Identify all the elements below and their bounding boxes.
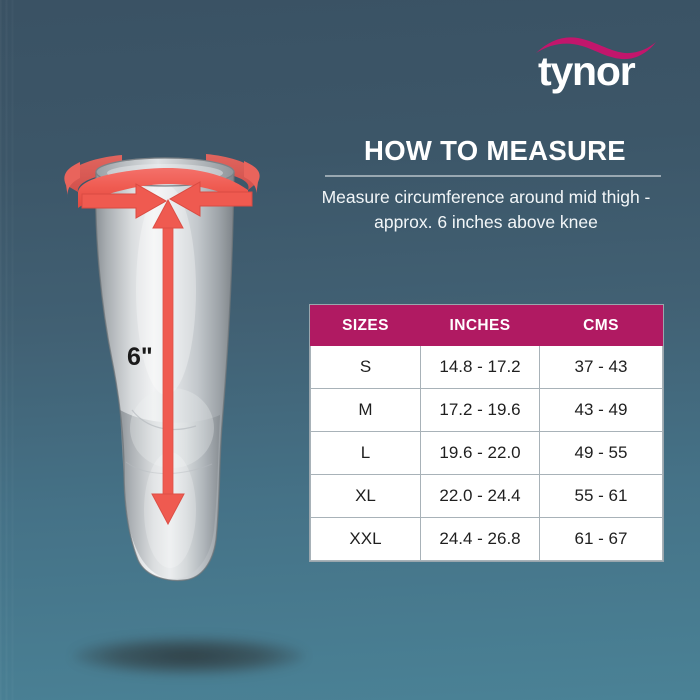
column-header-inches: INCHES xyxy=(421,306,540,346)
brand-logo: tynor xyxy=(508,34,668,102)
title-divider xyxy=(325,175,661,177)
table-header-row: SIZES INCHES CMS xyxy=(311,306,663,346)
cell-size: M xyxy=(311,389,421,432)
leg-illustration: 6" xyxy=(20,110,310,590)
table-row: XXL 24.4 - 26.8 61 - 67 xyxy=(311,518,663,561)
cell-inches: 22.0 - 24.4 xyxy=(421,475,540,518)
size-chart-infographic: tynor HOW TO MEASURE Measure circumferen… xyxy=(0,0,700,700)
cell-cms: 61 - 67 xyxy=(540,518,663,561)
cell-size: XL xyxy=(311,475,421,518)
brand-name: tynor xyxy=(538,51,635,92)
cell-size: S xyxy=(311,346,421,389)
cell-cms: 37 - 43 xyxy=(540,346,663,389)
cell-cms: 43 - 49 xyxy=(540,389,663,432)
cell-inches: 19.6 - 22.0 xyxy=(421,432,540,475)
column-header-sizes: SIZES xyxy=(311,306,421,346)
table-row: XL 22.0 - 24.4 55 - 61 xyxy=(311,475,663,518)
page-title: HOW TO MEASURE xyxy=(325,135,665,167)
size-chart-table: SIZES INCHES CMS S 14.8 - 17.2 37 - 43 M… xyxy=(310,305,663,561)
leg-diagram xyxy=(20,110,310,590)
page-subtitle: Measure circumference around mid thigh -… xyxy=(307,185,665,235)
table-row: M 17.2 - 19.6 43 - 49 xyxy=(311,389,663,432)
measurement-label: 6" xyxy=(127,343,153,372)
ground-shadow xyxy=(73,637,305,675)
table-row: L 19.6 - 22.0 49 - 55 xyxy=(311,432,663,475)
cell-inches: 14.8 - 17.2 xyxy=(421,346,540,389)
cell-cms: 49 - 55 xyxy=(540,432,663,475)
cell-size: XXL xyxy=(311,518,421,561)
table-row: S 14.8 - 17.2 37 - 43 xyxy=(311,346,663,389)
column-header-cms: CMS xyxy=(540,306,663,346)
cell-size: L xyxy=(311,432,421,475)
cell-inches: 24.4 - 26.8 xyxy=(421,518,540,561)
cell-inches: 17.2 - 19.6 xyxy=(421,389,540,432)
cell-cms: 55 - 61 xyxy=(540,475,663,518)
